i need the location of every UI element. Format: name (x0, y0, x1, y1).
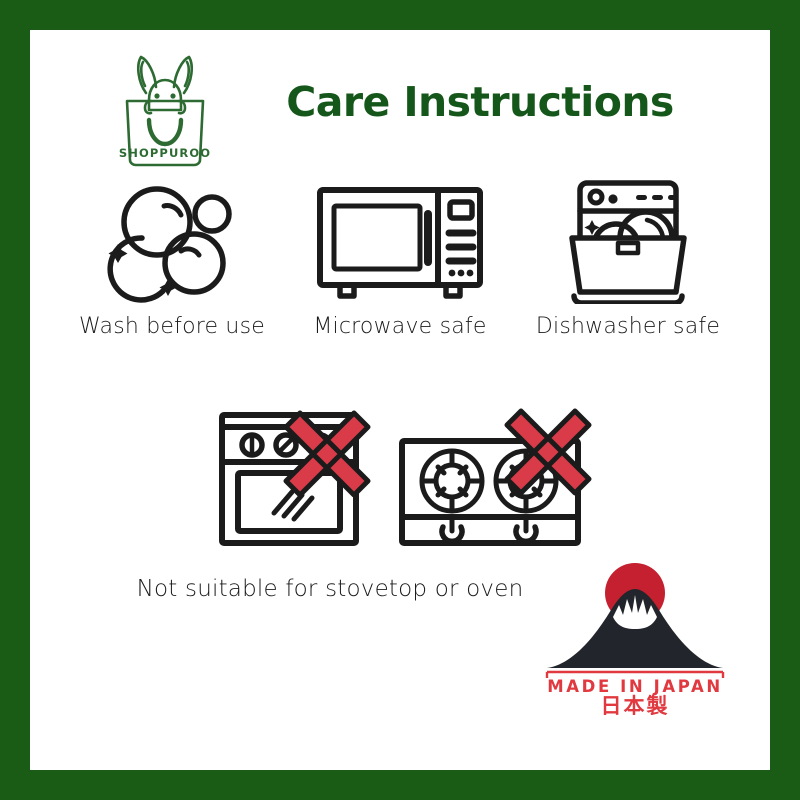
brand-wordmark: SHOPPUROO (119, 146, 211, 160)
page-title: Care Instructions (240, 78, 720, 126)
bubbles-icon (102, 180, 242, 300)
care-instructions-poster: SHOPPUROO Care Instructions (0, 0, 800, 800)
oven-icon (208, 405, 378, 555)
care-item-wash: Wash before use (58, 180, 286, 339)
care-label-wash: Wash before use (79, 314, 265, 339)
dishwasher-icon (548, 180, 708, 300)
shopping-bag-kangaroo-logo: SHOPPUROO (105, 38, 225, 168)
gas-stovetop-icon (390, 405, 600, 555)
microwave-icon (310, 180, 490, 300)
poster-card: SHOPPUROO Care Instructions (30, 30, 770, 770)
care-item-microwave: Microwave safe (286, 180, 514, 339)
care-item-oven (198, 405, 388, 555)
care-item-stovetop (388, 405, 603, 555)
made-in-japan-text-jp: 日本製 (601, 694, 670, 715)
care-item-dishwasher: Dishwasher safe (514, 180, 742, 339)
unsafe-care-row (30, 405, 770, 555)
care-label-dishwasher: Dishwasher safe (536, 314, 720, 339)
made-in-japan-badge: MADE IN JAPAN 日本製 (535, 555, 735, 715)
care-label-microwave: Microwave safe (313, 314, 486, 339)
safe-care-row: Wash before use (30, 180, 770, 339)
poster-header: SHOPPUROO Care Instructions (30, 30, 770, 170)
